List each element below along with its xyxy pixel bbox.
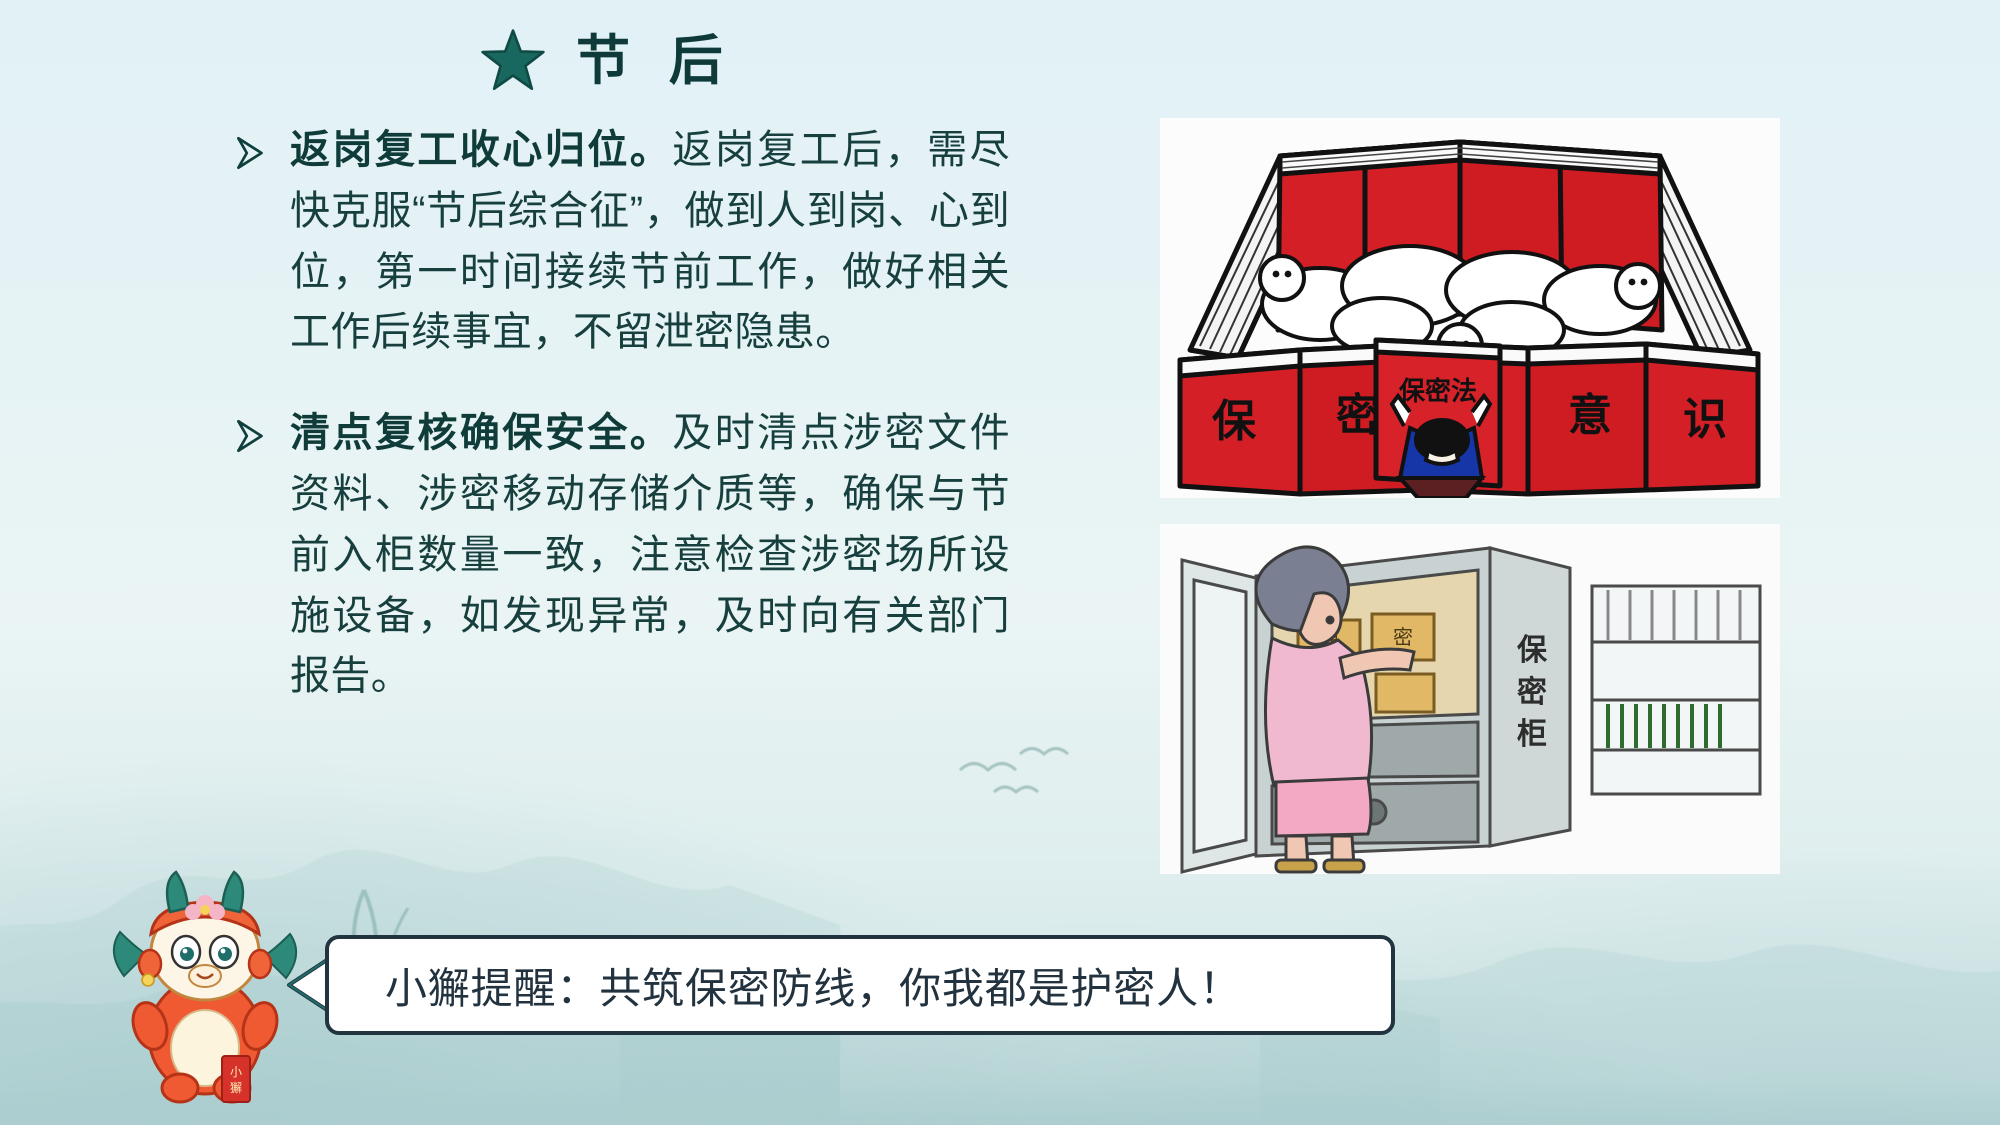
svg-text:保: 保: [1212, 396, 1257, 447]
svg-text:意: 意: [1568, 390, 1612, 441]
svg-text:识: 识: [1683, 394, 1727, 445]
books-house-illustration: 保 密 意 识 保密法: [1160, 118, 1780, 498]
list-item-lead: 返岗复工收心归位。: [290, 128, 672, 172]
callout-bubble: 小獬提醒：共筑保密防线，你我都是护密人！: [325, 935, 1395, 1035]
slide-canvas: 节 后 返岗复工收心归位。返岗复工后，需尽快克服“节后综合征”，做到人到岗、心到…: [0, 0, 2000, 1125]
svg-text:密: 密: [1517, 675, 1547, 710]
chevron-right-bullet-icon: [230, 415, 272, 457]
list-item-text: 返岗复工收心归位。返岗复工后，需尽快克服“节后综合征”，做到人到岗、心到位，第一…: [290, 120, 1010, 363]
list-item-lead: 清点复核确保安全。: [290, 411, 672, 455]
svg-text:保: 保: [1517, 633, 1548, 668]
svg-text:獬: 獬: [230, 1080, 242, 1095]
list-item: 清点复核确保安全。及时清点涉密文件资料、涉密移动存储介质等，确保与节前入柜数量一…: [290, 403, 1010, 707]
svg-text:保密法: 保密法: [1398, 376, 1477, 407]
svg-text:密: 密: [1336, 390, 1380, 441]
xiao-xie-mascot: 小 獬: [100, 860, 310, 1110]
bullet-list: 返岗复工收心归位。返岗复工后，需尽快克服“节后综合征”，做到人到岗、心到位，第一…: [290, 120, 1010, 733]
bird-decoration: [950, 740, 1120, 810]
page-title: 节 后: [480, 28, 735, 94]
secrecy-cabinet-illustration: 保 密 保 密 柜: [1160, 524, 1780, 874]
svg-text:柜: 柜: [1517, 717, 1547, 752]
list-item: 返岗复工收心归位。返岗复工后，需尽快克服“节后综合征”，做到人到岗、心到位，第一…: [290, 120, 1010, 363]
list-item-text: 清点复核确保安全。及时清点涉密文件资料、涉密移动存储介质等，确保与节前入柜数量一…: [290, 403, 1010, 707]
page-title-text: 节 后: [576, 34, 735, 88]
callout-text: 小獬提醒：共筑保密防线，你我都是护密人！: [385, 955, 1242, 1016]
svg-text:密: 密: [1393, 625, 1413, 649]
svg-text:小: 小: [230, 1065, 242, 1079]
star-icon: [480, 28, 546, 94]
chevron-right-bullet-icon: [230, 132, 272, 174]
